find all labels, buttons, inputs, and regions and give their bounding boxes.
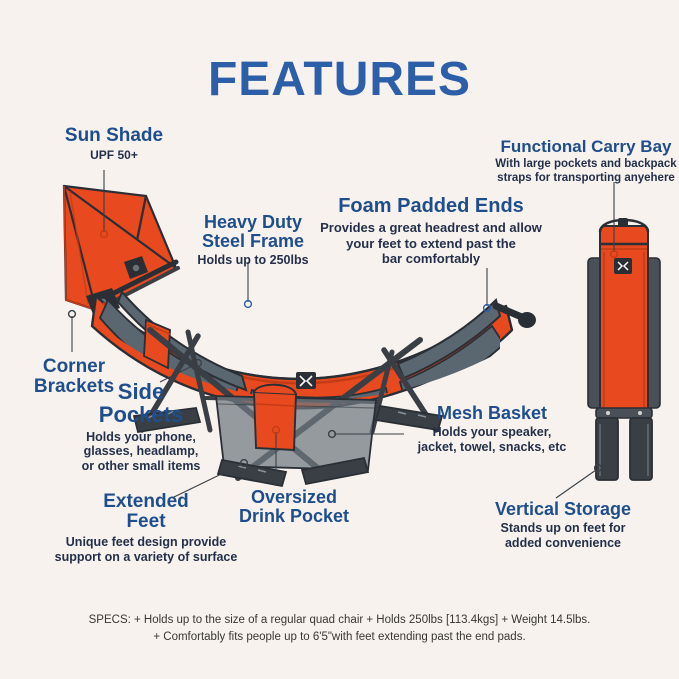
callout-sun-shade-sub: UPF 50+ xyxy=(34,148,194,162)
callout-sun-shade: Sun Shade UPF 50+ xyxy=(34,126,194,162)
callout-extended-feet-sub: Unique feet design provide support on a … xyxy=(38,535,254,565)
callout-foam-ends-heading: Foam Padded Ends xyxy=(310,196,552,217)
drink-pocket xyxy=(254,385,296,450)
callout-carry-bay-sub: With large pockets and backpack straps f… xyxy=(492,158,679,185)
page-title: FEATURES xyxy=(0,52,679,107)
callout-steel-frame: Heavy Duty Steel Frame Holds up to 250lb… xyxy=(183,213,323,268)
brand-logo-tag xyxy=(296,372,316,389)
callout-foam-ends-sub: Provides a great headrest and allow your… xyxy=(310,220,552,266)
callout-carry-bay: Functional Carry Bay With large pockets … xyxy=(492,138,679,185)
callout-steel-frame-sub: Holds up to 250lbs xyxy=(183,253,323,268)
callout-mesh-basket-sub: Holds your speaker, jacket, towel, snack… xyxy=(406,425,578,455)
callout-extended-feet: Extended Feet Unique feet design provide… xyxy=(38,492,254,565)
carry-bag-illustration xyxy=(588,218,660,480)
callout-side-pockets: Side Pockets Holds your phone, glasses, … xyxy=(60,380,222,474)
callout-vertical-storage-heading: Vertical Storage xyxy=(468,500,658,519)
callout-steel-frame-heading: Heavy Duty Steel Frame xyxy=(183,213,323,251)
callout-side-pockets-sub: Holds your phone, glasses, headlamp, or … xyxy=(60,430,222,474)
callout-mesh-basket: Mesh Basket Holds your speaker, jacket, … xyxy=(406,404,578,455)
carry-bag-logo xyxy=(614,258,632,274)
callout-carry-bay-heading: Functional Carry Bay xyxy=(492,138,679,156)
callout-side-pockets-heading: Side Pockets xyxy=(60,380,222,427)
callout-extended-feet-heading: Extended Feet xyxy=(38,492,254,532)
callout-vertical-storage-sub: Stands up on feet for added convenience xyxy=(468,521,658,551)
callout-mesh-basket-heading: Mesh Basket xyxy=(406,404,578,423)
callout-vertical-storage: Vertical Storage Stands up on feet for a… xyxy=(468,500,658,551)
infographic-canvas: FEATURES Sun Shade UPF 50+ Heavy Duty St… xyxy=(0,0,679,679)
specs-footer: SPECS: + Holds up to the size of a regul… xyxy=(0,612,679,647)
callout-sun-shade-heading: Sun Shade xyxy=(34,126,194,146)
callout-foam-ends: Foam Padded Ends Provides a great headre… xyxy=(310,196,552,266)
